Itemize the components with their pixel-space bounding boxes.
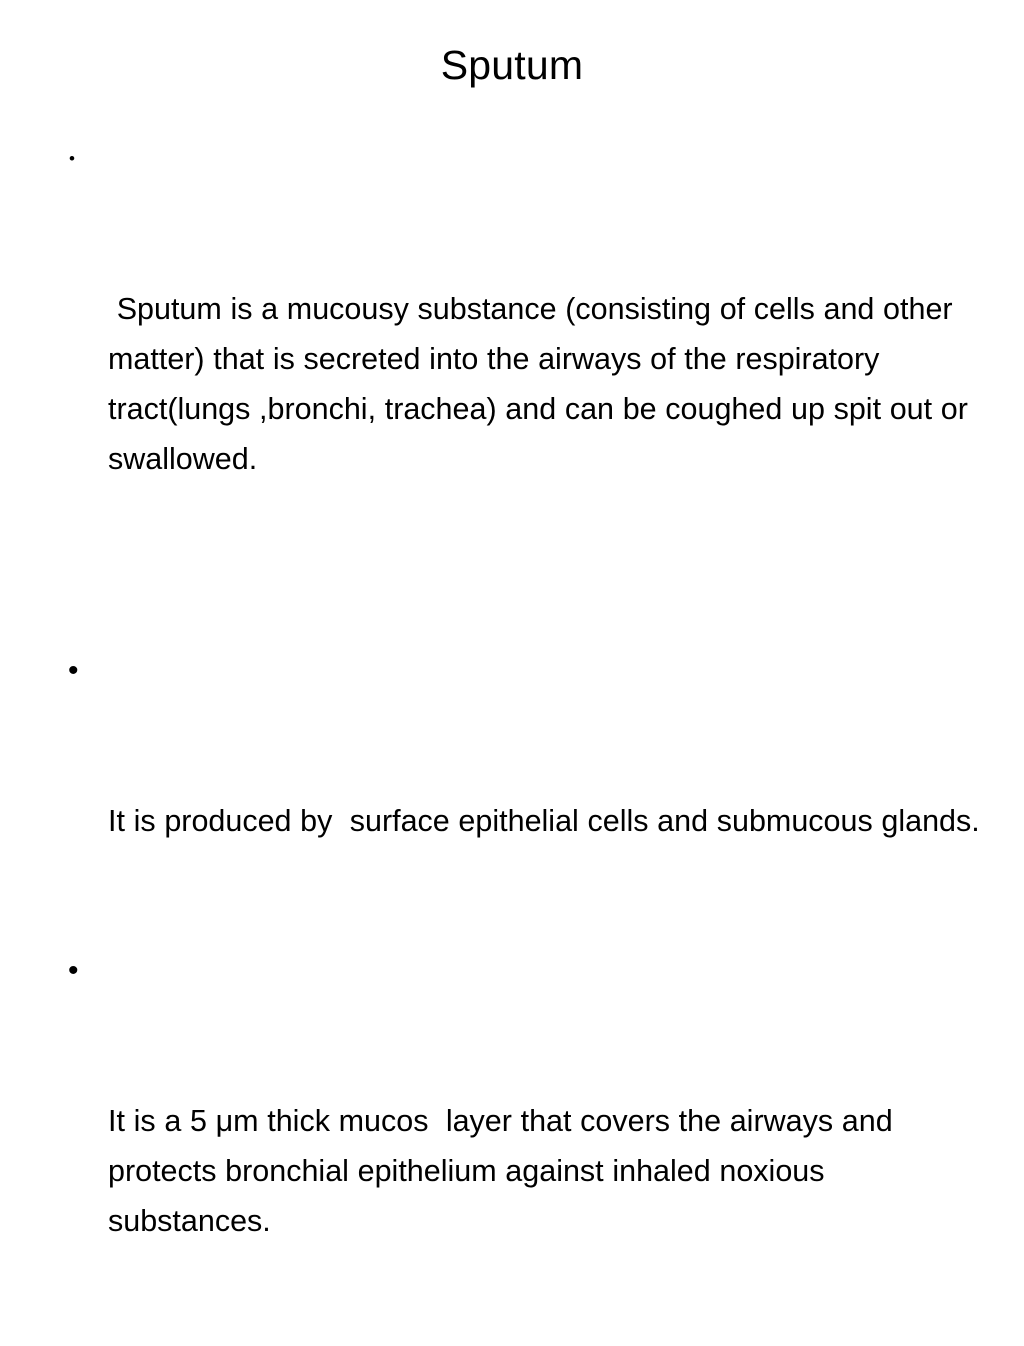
bullet-point-icon: • <box>69 134 75 184</box>
paragraph-spacer <box>62 584 992 646</box>
bullet-paragraph-1: • Sputum is a mucousy substance (consist… <box>62 134 992 584</box>
bullet-paragraph-3: • It is a 5 μm thick mucos layer that co… <box>62 946 992 1346</box>
bullet-paragraph-2: • It is produced by surface epithelial c… <box>62 646 992 946</box>
bullet-paragraph-2-text: It is produced by surface epithelial cel… <box>108 796 992 846</box>
slide-canvas: Sputum • Sputum is a mucousy substance (… <box>0 0 1024 768</box>
bullet-point-icon: • <box>68 646 79 696</box>
bullet-point-icon: • <box>68 946 79 996</box>
bullet-paragraph-1-text: Sputum is a mucousy substance (consistin… <box>108 284 992 484</box>
slide-body: • Sputum is a mucousy substance (consist… <box>62 134 992 1346</box>
page-title: Sputum <box>0 42 1024 89</box>
bullet-paragraph-3-text: It is a 5 μm thick mucos layer that cove… <box>108 1096 992 1246</box>
